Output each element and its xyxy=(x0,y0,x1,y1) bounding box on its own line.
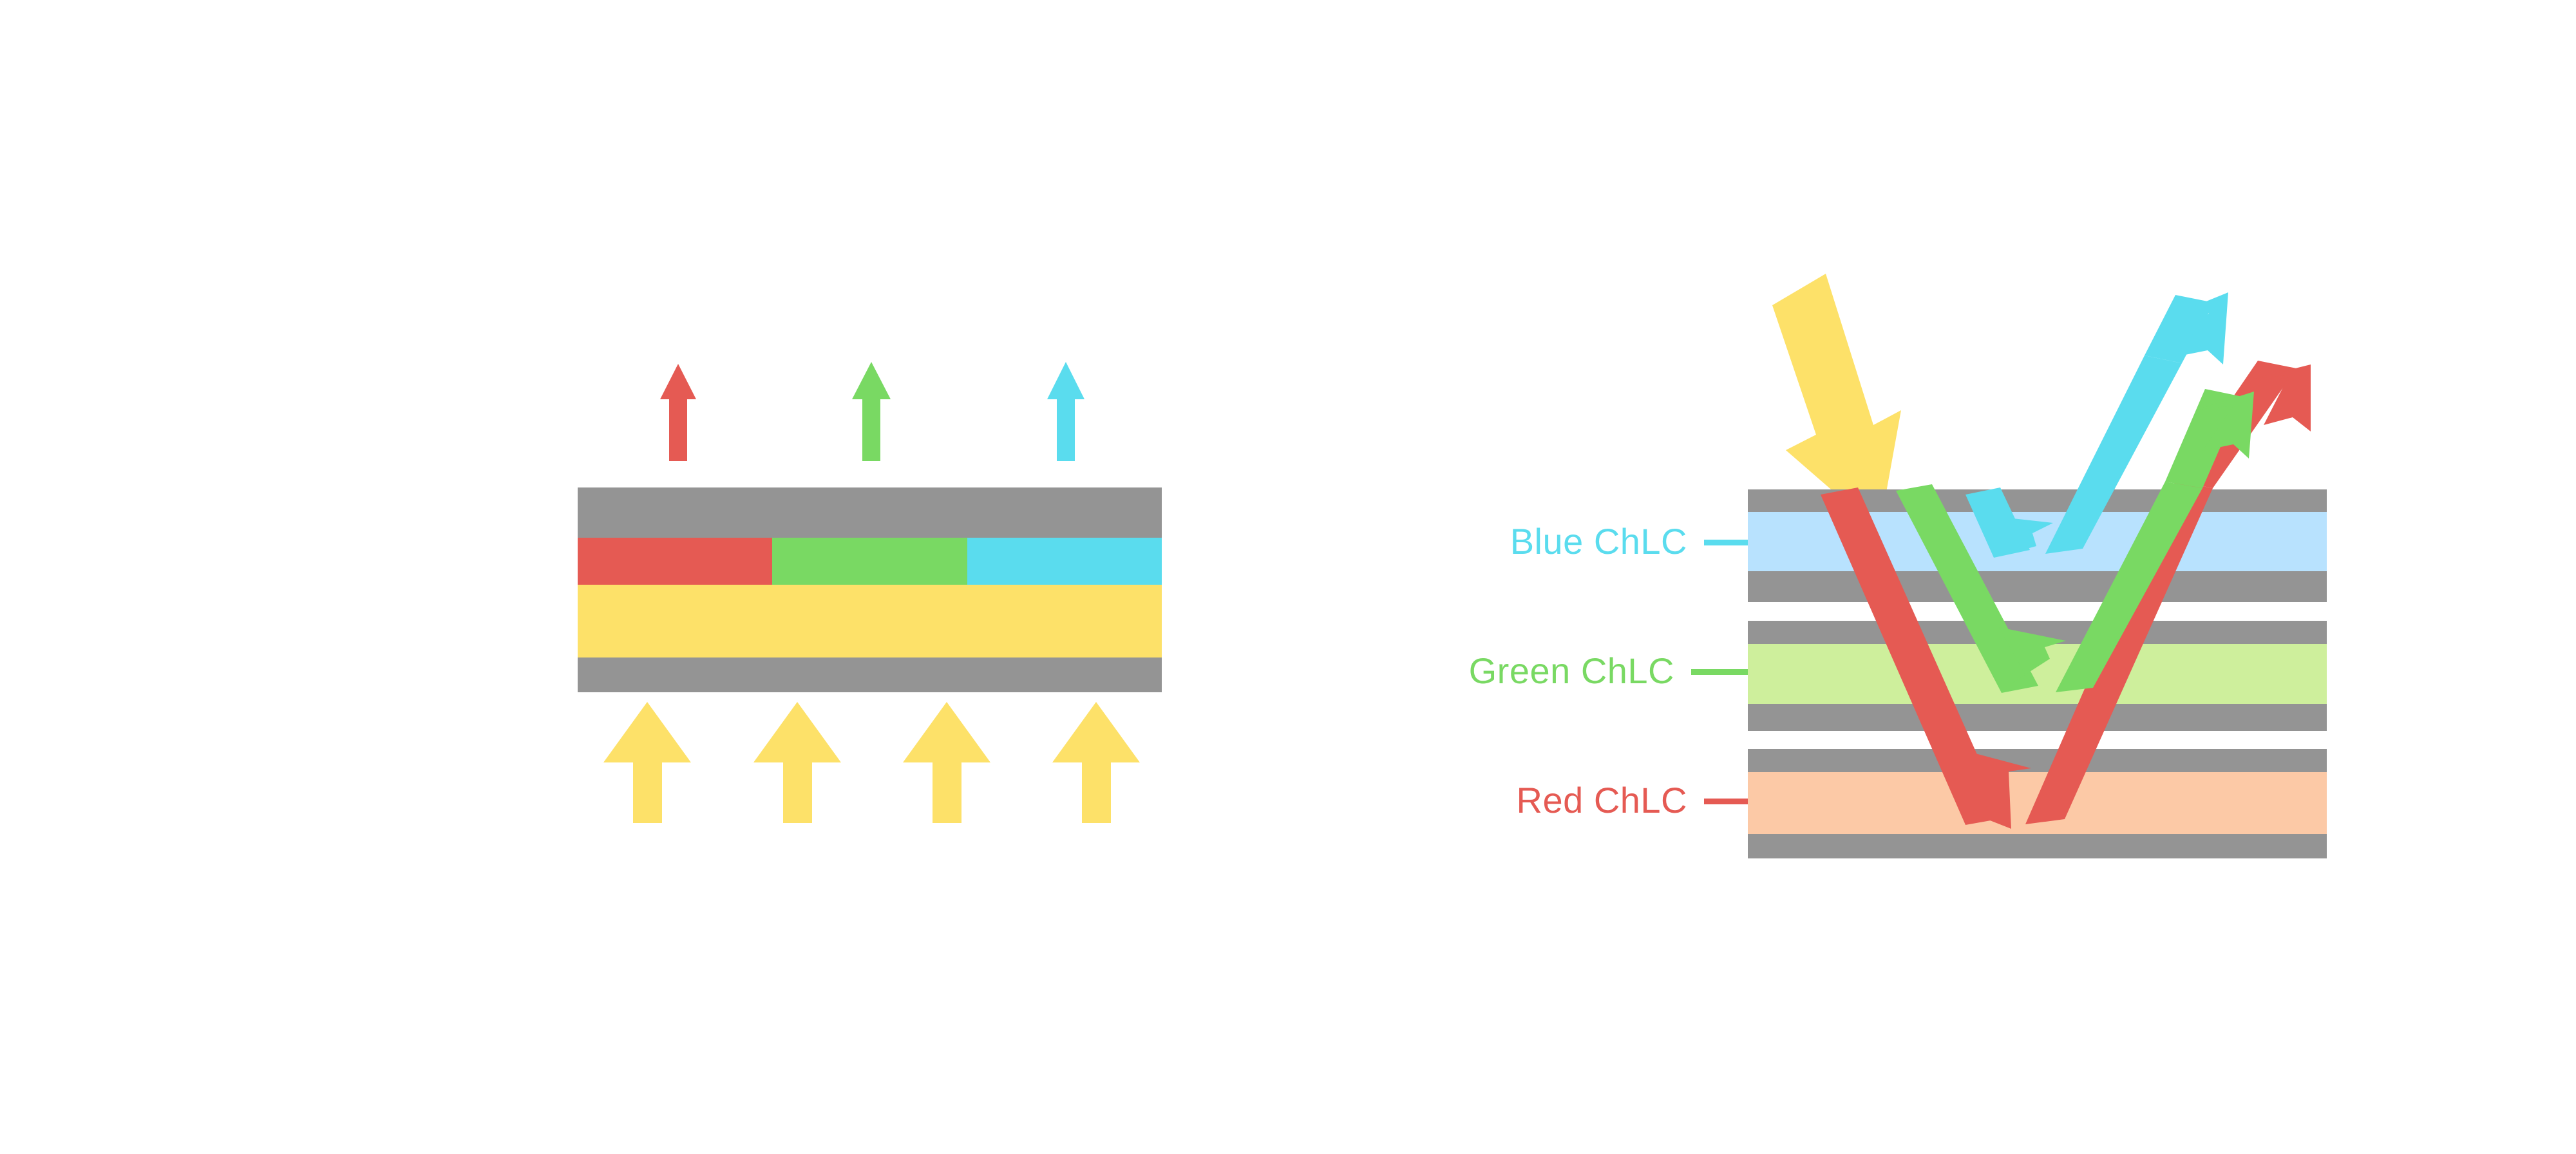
bottom-electrode-layer xyxy=(578,657,1162,692)
blue-emission-arrow-shape xyxy=(1047,362,1084,461)
backlight-arrow-3 xyxy=(903,702,990,823)
red-cell-top-substrate xyxy=(1748,749,2327,772)
green-emission-arrow-shape xyxy=(852,362,891,461)
red-cell-bottom-substrate xyxy=(1748,834,2327,858)
blue-cell-bottom-substrate xyxy=(1748,571,2327,602)
backlight-arrow-2 xyxy=(753,702,841,823)
green-emission-arrow xyxy=(852,362,891,461)
blue-emission-arrow xyxy=(1047,362,1084,461)
chlc-diagram-svg: Blue ChLC Green ChLC Red ChLC xyxy=(0,0,2576,1154)
left-stack xyxy=(578,487,1162,692)
blue-chlc-label: Blue ChLC xyxy=(1510,521,1687,562)
backlight-layer xyxy=(578,585,1162,657)
backlight-arrow-1 xyxy=(603,702,691,823)
green-filter-segment xyxy=(772,538,967,585)
chlc-labels-group: Blue ChLC Green ChLC Red ChLC xyxy=(1469,521,1781,820)
backlight-arrow-4 xyxy=(1052,702,1140,823)
right-panel: Blue ChLC Green ChLC Red ChLC xyxy=(1469,274,2327,858)
backlight-arrows-group xyxy=(603,702,1140,823)
red-chlc-label: Red ChLC xyxy=(1517,780,1687,820)
left-panel xyxy=(578,362,1162,823)
left-emitted-arrows-group xyxy=(660,362,1084,461)
figure-root: Blue ChLC Green ChLC Red ChLC xyxy=(0,0,2576,1154)
red-emission-arrow xyxy=(660,364,696,461)
red-emission-arrow-shape xyxy=(660,364,696,461)
green-chlc-label: Green ChLC xyxy=(1469,650,1674,691)
top-electrode-layer xyxy=(578,487,1162,538)
blue-filter-segment xyxy=(967,538,1162,585)
green-cell-bottom-substrate xyxy=(1748,704,2327,731)
red-filter-segment xyxy=(578,538,772,585)
